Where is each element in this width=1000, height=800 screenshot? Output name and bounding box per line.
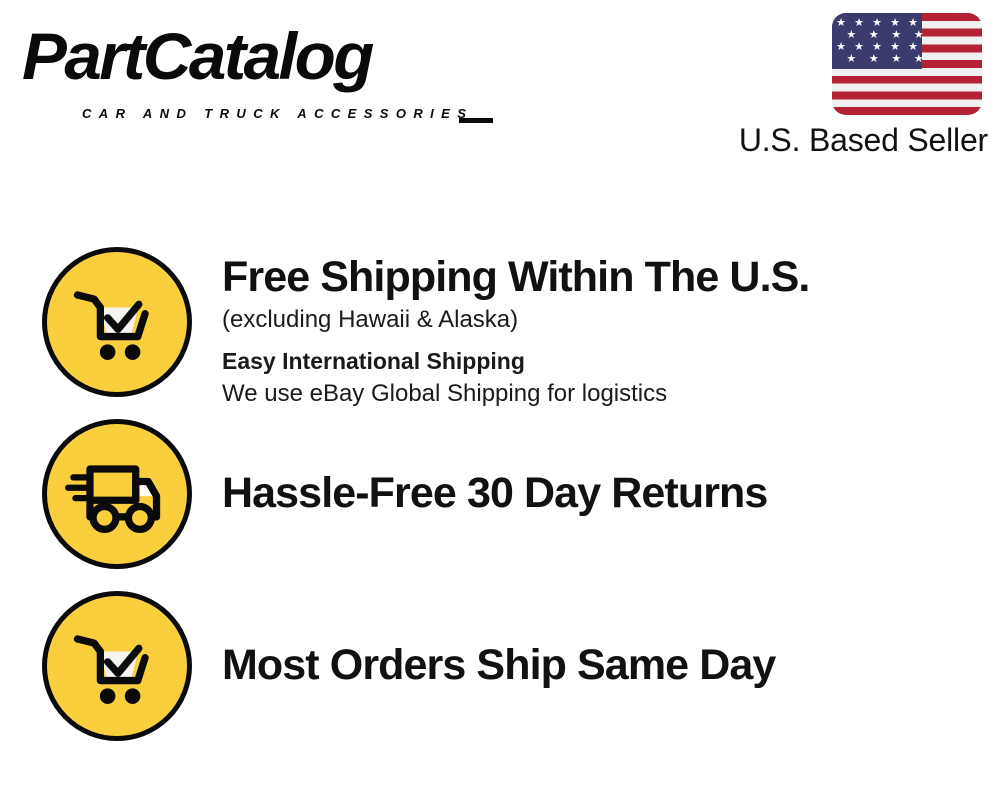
feature-subnote: We use eBay Global Shipping for logistic… bbox=[222, 377, 980, 410]
feature-text-block: Most Orders Ship Same Day bbox=[222, 639, 980, 691]
feature-row: Hassle-Free 30 Day Returns bbox=[0, 419, 1000, 591]
us-flag-canton: ★★★★★ ★★★★ ★★★★★ ★★★★ bbox=[832, 13, 922, 69]
feature-note: (excluding Hawaii & Alaska) bbox=[222, 303, 980, 336]
feature-title: Hassle-Free 30 Day Returns bbox=[222, 467, 980, 519]
us-based-seller-label: U.S. Based Seller bbox=[739, 121, 988, 159]
page-header: PartCatalog CAR AND TRUCK ACCESSORIES ★★… bbox=[0, 0, 1000, 175]
brand-logo[interactable]: PartCatalog CAR AND TRUCK ACCESSORIES bbox=[22, 18, 492, 113]
feature-text-block: Free Shipping Within The U.S. (excluding… bbox=[222, 251, 980, 410]
feature-list: Free Shipping Within The U.S. (excluding… bbox=[0, 175, 1000, 800]
us-flag-icon: ★★★★★ ★★★★ ★★★★★ ★★★★ bbox=[832, 13, 982, 115]
feature-title: Free Shipping Within The U.S. bbox=[222, 251, 980, 303]
feature-subtitle: Easy International Shipping bbox=[222, 345, 980, 377]
us-flag-star-row: ★★★★★ bbox=[832, 42, 922, 53]
brand-wordmark: PartCatalog bbox=[22, 18, 372, 94]
us-flag-star-row: ★★★★★ bbox=[832, 18, 922, 29]
us-based-seller-badge: ★★★★★ ★★★★ ★★★★★ ★★★★ U.S. Based Seller bbox=[702, 8, 992, 160]
us-flag-star-row: ★★★★ bbox=[832, 30, 938, 41]
brand-tagline-rule bbox=[459, 118, 493, 123]
feature-text-block: Hassle-Free 30 Day Returns bbox=[222, 467, 980, 519]
feature-row: Free Shipping Within The U.S. (excluding… bbox=[0, 247, 1000, 419]
us-flag-star-row: ★★★★ bbox=[832, 54, 938, 65]
feature-title: Most Orders Ship Same Day bbox=[222, 639, 980, 691]
delivery-truck-icon bbox=[42, 419, 192, 569]
feature-row: Most Orders Ship Same Day bbox=[0, 591, 1000, 763]
shopping-cart-check-icon bbox=[42, 247, 192, 397]
brand-tagline: CAR AND TRUCK ACCESSORIES bbox=[82, 106, 473, 121]
shopping-cart-check-icon bbox=[42, 591, 192, 741]
